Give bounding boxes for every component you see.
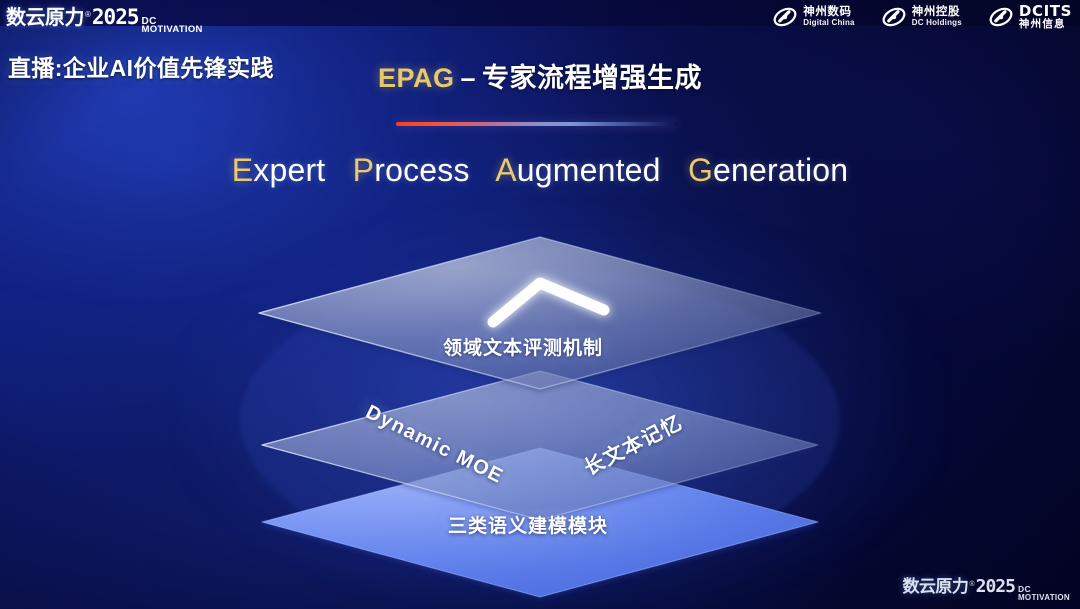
subtitle-cap: G	[688, 152, 713, 188]
title-chinese: 专家流程增强生成	[482, 63, 702, 93]
program-logo-dc: DC MOTIVATION	[141, 17, 202, 35]
footer-logo-dc: DC MOTIVATION	[1018, 586, 1070, 601]
subtitle-rest: xpert	[253, 152, 325, 188]
partner-logo-digital-china: 神州数码 Digital China	[772, 4, 855, 30]
dcits-swirl-icon	[988, 4, 1014, 30]
partner-name-en: 神州信息	[1019, 19, 1072, 30]
footer-logo-year: 2025	[976, 576, 1015, 597]
footer-logo-cn: 数云原力	[902, 572, 968, 597]
digital-china-swirl-icon	[772, 4, 798, 30]
dc-holdings-swirl-icon	[881, 4, 907, 30]
partner-name-cn: DCITS	[1019, 4, 1072, 19]
subtitle-cap: E	[232, 152, 254, 188]
partner-logo-dc-holdings: 神州控股 DC Holdings	[881, 4, 962, 30]
subtitle-word-process: Process	[353, 152, 470, 188]
subtitle-word-augmented: Augmented	[495, 152, 660, 188]
page-title: EPAG–专家流程增强生成	[0, 56, 1080, 95]
subtitle-word-expert: Expert	[232, 152, 326, 188]
footer-logo-dc-line2: MOTIVATION	[1018, 594, 1070, 601]
subtitle-rest: rocess	[374, 152, 469, 188]
title-divider	[396, 122, 678, 126]
program-logo-dc-line2: MOTIVATION	[141, 26, 202, 35]
layer-label-bottom: 三类语义建模模块	[448, 511, 608, 538]
slide-canvas: 数云原力 ® 2025 DC MOTIVATION 直播:企业AI价值先锋实践 …	[0, 0, 1080, 609]
subtitle-space	[334, 152, 343, 188]
program-logo-cn: 数云原力	[6, 1, 84, 30]
program-logo-year: 2025	[92, 5, 139, 29]
subtitle-rest: eneration	[713, 152, 848, 188]
title-acronym: EPAG	[378, 63, 455, 93]
subtitle-word-generation: Generation	[688, 152, 848, 188]
partner-name-en: Digital China	[803, 19, 855, 27]
subtitle-rest: ugmented	[517, 152, 661, 188]
subtitle-space	[479, 152, 488, 188]
subtitle-space	[670, 152, 679, 188]
footer-registered-mark-icon: ®	[969, 581, 974, 588]
page-subtitle: Expert Process Augmented Generation	[0, 152, 1080, 189]
partner-logo-row: 神州数码 Digital China 神州控股 DC Holdings	[772, 4, 1072, 30]
subtitle-cap: A	[495, 152, 517, 188]
layer-label-top: 领域文本评测机制	[443, 333, 603, 360]
footer-watermark-logo: 数云原力 ® 2025 DC MOTIVATION	[902, 572, 1070, 601]
partner-logo-dcits: DCITS 神州信息	[988, 4, 1072, 30]
program-logo: 数云原力 ® 2025 DC MOTIVATION	[6, 1, 203, 35]
partner-name-en: DC Holdings	[912, 19, 962, 27]
title-dash: –	[460, 63, 476, 93]
subtitle-cap: P	[353, 152, 375, 188]
registered-mark-icon: ®	[85, 10, 91, 19]
